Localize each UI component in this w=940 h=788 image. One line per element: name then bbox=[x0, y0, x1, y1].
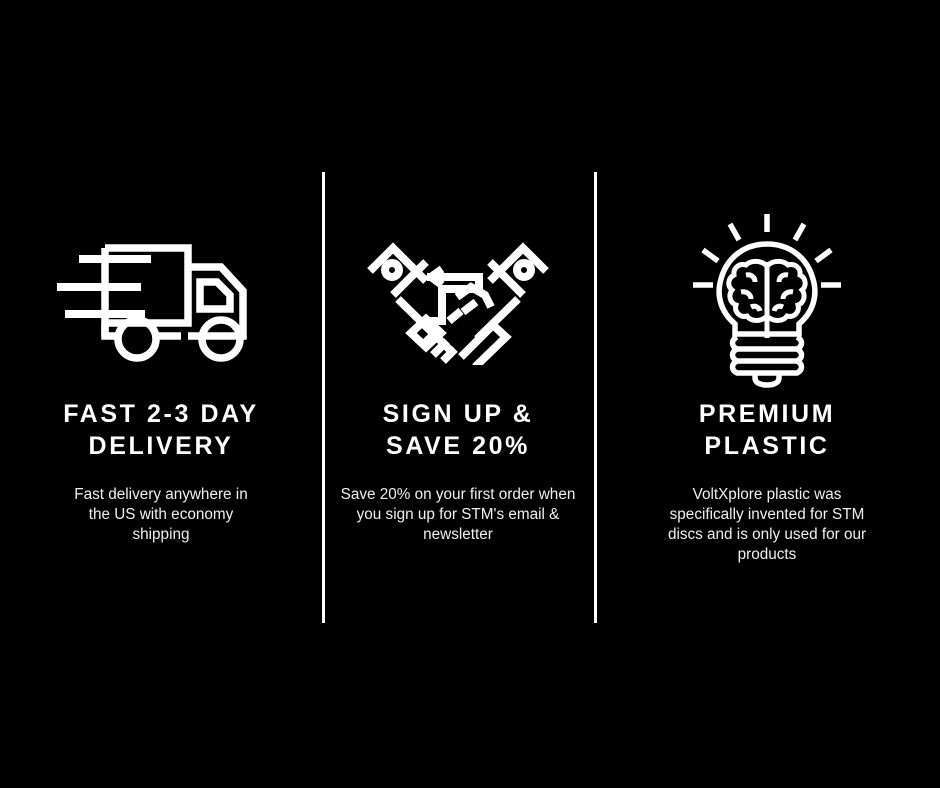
feature-body-plastic: VoltXplore plastic was specifically inve… bbox=[667, 485, 867, 565]
feature-heading-delivery: FAST 2-3 DAY DELIVERY bbox=[31, 398, 291, 462]
feature-heading-plastic: PREMIUM PLASTIC bbox=[642, 398, 892, 462]
signup-icon-wrap bbox=[322, 214, 594, 379]
feature-columns: FAST 2-3 DAY DELIVERY Fast delivery anyw… bbox=[0, 0, 940, 788]
column-divider-1 bbox=[322, 172, 325, 623]
feature-column-signup: SIGN UP & SAVE 20% Save 20% on your firs… bbox=[322, 0, 594, 545]
feature-heading-signup: SIGN UP & SAVE 20% bbox=[333, 398, 583, 462]
column-divider-2 bbox=[594, 172, 597, 623]
delivery-icon-wrap bbox=[0, 214, 322, 379]
feature-body-delivery: Fast delivery anywhere in the US with ec… bbox=[63, 485, 259, 545]
feature-column-plastic: PREMIUM PLASTIC VoltXplore plastic was s… bbox=[594, 0, 940, 565]
feature-column-delivery: FAST 2-3 DAY DELIVERY Fast delivery anyw… bbox=[0, 0, 322, 545]
handshake-icon bbox=[365, 229, 551, 365]
feature-body-signup: Save 20% on your first order when you si… bbox=[332, 485, 584, 545]
plastic-icon-wrap bbox=[594, 214, 940, 379]
lightbulb-brain-icon bbox=[689, 206, 845, 388]
delivery-truck-icon bbox=[57, 229, 265, 364]
value-proposition-banner: FAST 2-3 DAY DELIVERY Fast delivery anyw… bbox=[0, 0, 940, 788]
